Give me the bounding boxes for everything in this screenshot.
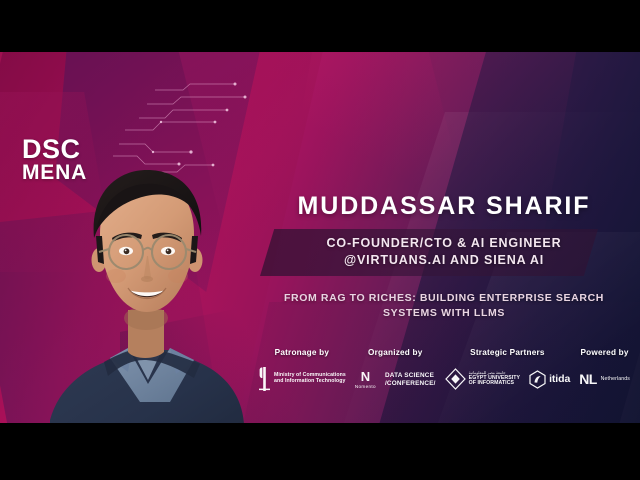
ministry-of-communications-logo: Ministry of Communications and Informati… [258, 366, 346, 392]
ministry-line-2: and Information Technology [274, 379, 346, 385]
obelisk-icon [258, 366, 271, 392]
talk-title: FROM RAG TO RICHES: BUILDING ENTERPRISE … [248, 291, 640, 320]
speaker-portrait [44, 152, 244, 423]
diamond-outline-icon [445, 368, 466, 390]
egypt-university-of-informatics-logo: جامعة مصر للمعلوماتية EGYPT UNIVERSITY O… [445, 368, 520, 390]
eui-arabic: جامعة مصر للمعلوماتية [469, 371, 520, 375]
dsc-logo-line-1: DATA SCIENCE [385, 372, 434, 379]
netherlands-nl-logo: NL Netherlands [579, 371, 630, 387]
sponsor-caption: Organized by [368, 348, 423, 357]
nomento-monogram: N [361, 370, 370, 383]
dsc-logo-line-2: /CONFERENCE/ [385, 380, 436, 387]
talk-line-2: SYSTEMS WITH LLMS [383, 307, 505, 319]
logo-line-mena: MENA [22, 163, 87, 184]
sponsor-strip: Patronage by Ministry of Communications … [258, 348, 630, 410]
speaker-role: CO-FOUNDER/CTO & AI ENGINEER @VIRTUANS.A… [248, 235, 640, 268]
role-line-2: @VIRTUANS.AI AND SIENA AI [344, 253, 544, 267]
sponsor-group-powered: Powered by NL Netherlands [579, 348, 630, 394]
nl-monogram: NL [579, 371, 596, 387]
sponsor-caption: Powered by [581, 348, 629, 357]
nomento-logo: N Nomento [355, 370, 376, 389]
data-science-conference-logo: DATA SCIENCE /CONFERENCE/ [385, 372, 436, 387]
itida-wordmark: itida [549, 373, 570, 385]
sponsor-group-strategic: Strategic Partners جامعة مصر للمعلوماتية… [445, 348, 571, 394]
nomento-wordmark: Nomento [355, 384, 376, 389]
role-line-1: CO-FOUNDER/CTO & AI ENGINEER [327, 236, 562, 250]
slide-background: DSC MENA [0, 52, 640, 423]
speaker-name: MUDDASSAR SHARIF [248, 192, 640, 221]
hexagon-icon [529, 370, 546, 389]
letterbox-bottom [0, 423, 640, 480]
sponsor-group-organized: Organized by N Nomento DATA SCIENCE /CON… [355, 348, 436, 394]
eui-line-2: OF INFORMATICS [469, 381, 520, 387]
logo-line-dsc: DSC [22, 136, 87, 162]
eui-logo-text: جامعة مصر للمعلوماتية EGYPT UNIVERSITY O… [469, 371, 520, 386]
slide-canvas: DSC MENA [0, 0, 640, 480]
sponsor-caption: Patronage by [275, 348, 330, 357]
ministry-logo-text: Ministry of Communications and Informati… [274, 373, 346, 384]
letterbox-top [0, 0, 640, 52]
sponsor-caption: Strategic Partners [470, 348, 545, 357]
netherlands-wordmark: Netherlands [601, 376, 630, 382]
sponsor-group-patronage: Patronage by Ministry of Communications … [258, 348, 346, 394]
talk-line-1: FROM RAG TO RICHES: BUILDING ENTERPRISE … [284, 292, 604, 304]
itida-logo: itida [529, 370, 570, 389]
dsc-mena-logo: DSC MENA [22, 136, 87, 184]
